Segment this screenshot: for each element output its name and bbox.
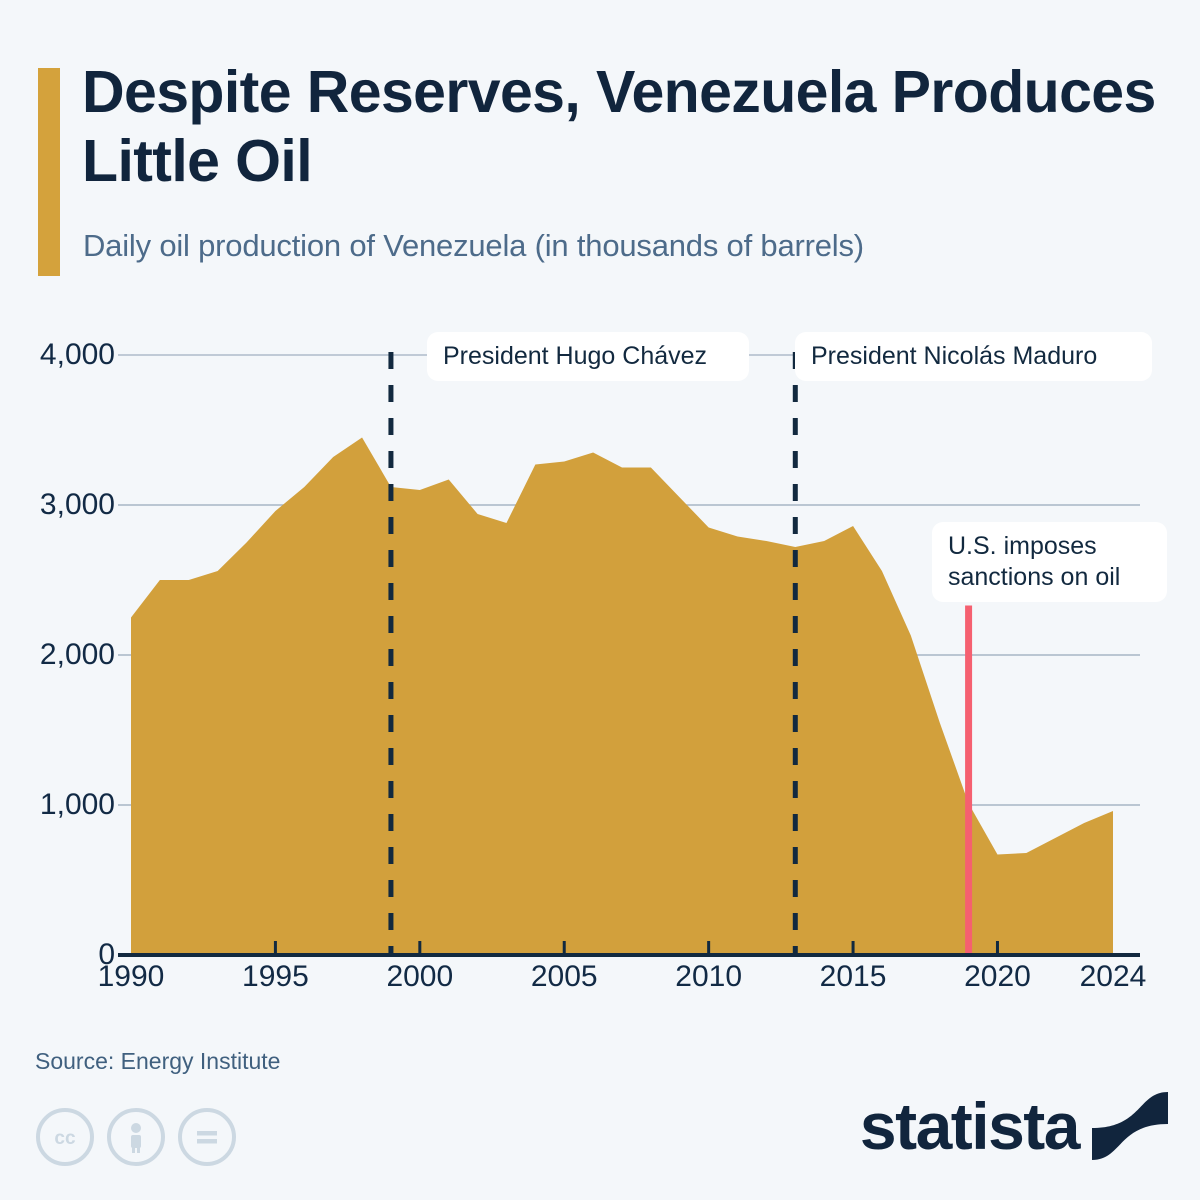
annotation-maduro: President Nicolás Maduro (795, 332, 1152, 381)
y-tick-label: 4,000 (15, 338, 115, 372)
chart-x-axis: 19901995200020052010201520202024 (0, 960, 1200, 1016)
svg-text:cc: cc (54, 1128, 76, 1149)
cc-icon[interactable]: cc (36, 1108, 94, 1166)
area-chart: 01,0002,0003,0004,000 199019952000200520… (0, 300, 1200, 1020)
y-tick-label: 2,000 (15, 638, 115, 672)
license-icons: cc (36, 1108, 236, 1166)
infographic-header: Despite Reserves, Venezuela Produces Lit… (0, 0, 1200, 300)
page-title: Despite Reserves, Venezuela Produces Lit… (82, 58, 1172, 196)
infographic-footer: Source: Energy Institute cc statista (0, 1020, 1200, 1200)
annotation-sanctions: U.S. imposes sanctions on oil (932, 522, 1167, 602)
x-tick-label: 2010 (675, 960, 742, 994)
annotation-chavez: President Hugo Chávez (427, 332, 749, 381)
person-glyph (119, 1119, 153, 1155)
cc-glyph: cc (47, 1119, 83, 1155)
x-tick-label: 2000 (386, 960, 453, 994)
statista-logo: statista (860, 1088, 1168, 1164)
statista-mark-icon (1092, 1088, 1168, 1164)
y-tick-label: 3,000 (15, 488, 115, 522)
page-subtitle: Daily oil production of Venezuela (in th… (83, 228, 1173, 264)
x-tick-label: 1995 (242, 960, 309, 994)
chart-y-axis: 01,0002,0003,0004,000 (10, 300, 115, 1020)
statista-wordmark: statista (860, 1093, 1079, 1159)
x-tick-label: 2024 (1080, 960, 1147, 994)
x-tick-label: 1990 (98, 960, 165, 994)
source-label: Source: Energy Institute (35, 1048, 280, 1075)
x-tick-label: 2020 (964, 960, 1031, 994)
y-tick-label: 1,000 (15, 788, 115, 822)
nd-equals-icon[interactable] (178, 1108, 236, 1166)
x-tick-label: 2015 (820, 960, 887, 994)
by-person-icon[interactable] (107, 1108, 165, 1166)
title-accent-bar (38, 68, 60, 276)
chart-plot-svg (0, 300, 1200, 1020)
equals-glyph (190, 1120, 224, 1154)
x-tick-label: 2005 (531, 960, 598, 994)
